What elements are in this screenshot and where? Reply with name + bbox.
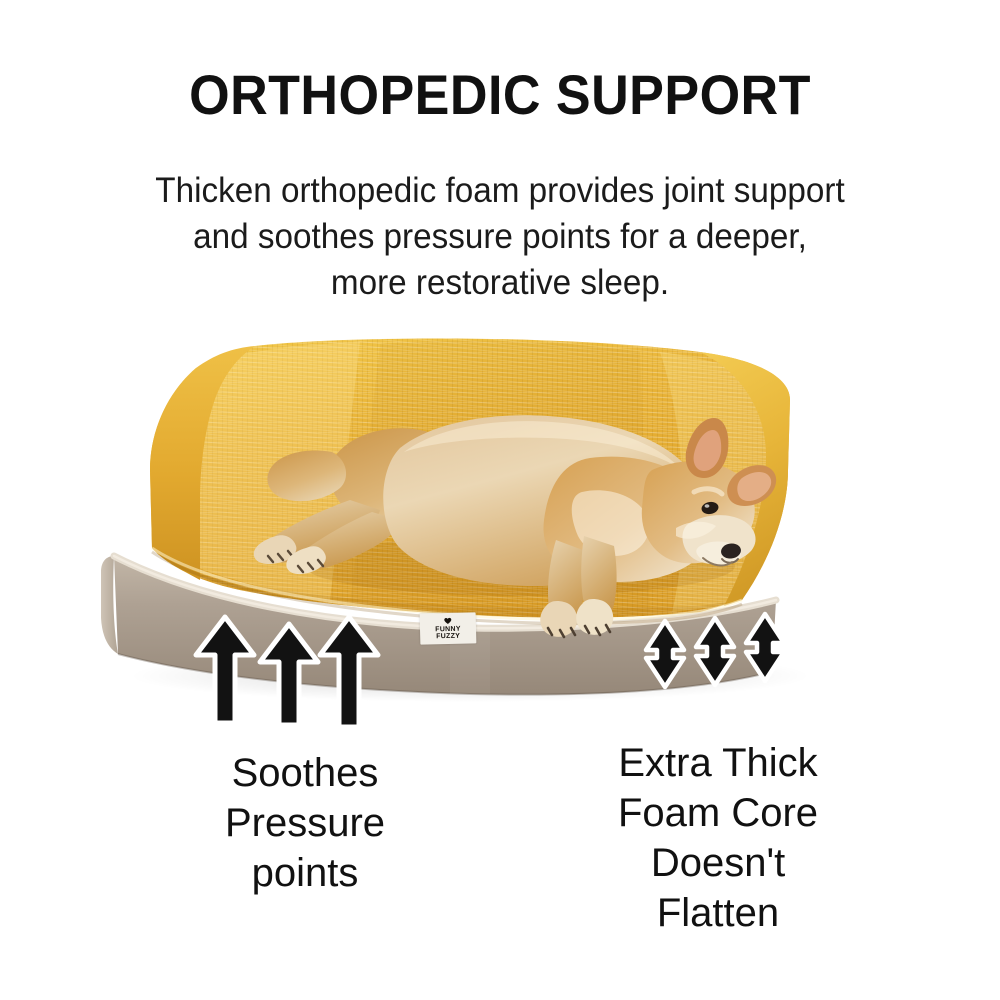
right-caption-line-1: Extra Thick (548, 738, 888, 788)
right-caption-line-2: Foam Core (548, 788, 888, 838)
right-caption-line-3: Doesn't (548, 838, 888, 888)
left-arrow-group (196, 617, 378, 727)
brand-name-line-2: FUZZY (436, 633, 460, 641)
product-feature-graphic: ORTHOPEDIC SUPPORT Thicken orthopedic fo… (0, 0, 1000, 1000)
brand-tag: FUNNY FUZZY (420, 612, 477, 644)
right-arrow-group (646, 614, 784, 687)
right-feature-caption: Extra Thick Foam Core Doesn't Flatten (548, 738, 888, 938)
left-feature-caption: Soothes Pressure points (140, 748, 470, 898)
left-caption-line-1: Soothes (140, 748, 470, 798)
left-caption-line-2: Pressure (140, 798, 470, 848)
right-caption-line-4: Flatten (548, 888, 888, 938)
heart-icon (444, 616, 452, 624)
left-caption-line-3: points (140, 848, 470, 898)
